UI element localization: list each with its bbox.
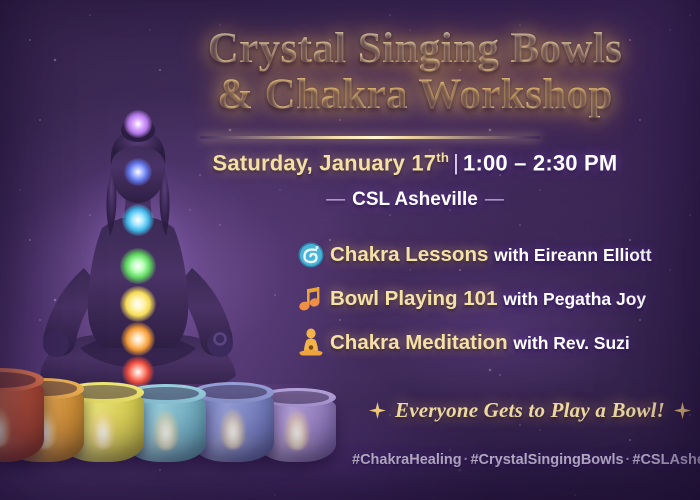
session-title: Chakra Lessons: [330, 243, 488, 266]
title-line-one: Crystal Singing Bowls: [150, 26, 680, 72]
event-date: Saturday, January 17: [213, 150, 437, 175]
singing-bowls-row: [0, 357, 380, 462]
session-text: Chakra Lessons with Eireann Elliott: [330, 243, 652, 267]
session-presenter: with Pegatha Joy: [503, 289, 646, 309]
hashtag-line: #ChakraHealing·#CrystalSingingBowls·#CSL…: [352, 452, 700, 468]
date-time-separator: |: [449, 150, 463, 175]
title-line-two: & Chakra Workshop: [150, 72, 680, 118]
venue-name: CSL Asheville: [352, 189, 478, 210]
root-chakra-bowl: [0, 368, 44, 462]
event-time: 1:00 – 2:30 PM: [463, 150, 617, 175]
tagline: Everyone Gets to Play a Bowl!: [360, 398, 700, 423]
session-item-chakra-lessons: Chakra Lessons with Eireann Elliott: [292, 233, 692, 277]
workshop-poster: Crystal Singing Bowls & Chakra Workshop …: [0, 0, 700, 500]
session-text: Bowl Playing 101 with Pegatha Joy: [330, 287, 646, 311]
session-text: Chakra Meditation with Rev. Suzi: [330, 331, 630, 355]
session-title: Bowl Playing 101: [330, 287, 497, 310]
meditation-person-icon: [292, 327, 330, 359]
gold-divider: [200, 136, 540, 139]
session-presenter: with Eireann Elliott: [494, 245, 652, 265]
venue-dash-left: —: [319, 189, 352, 210]
venue-dash-right: —: [478, 189, 511, 210]
music-note-icon: [292, 283, 330, 315]
venue-line: —CSL Asheville—: [150, 189, 680, 211]
session-list: Chakra Lessons with Eireann Elliott Bowl…: [292, 233, 692, 365]
hashtag-item: #ChakraHealing: [352, 452, 462, 468]
session-item-bowl-playing: Bowl Playing 101 with Pegatha Joy: [292, 277, 692, 321]
date-ordinal: th: [436, 150, 449, 165]
hashtag-item: #CrystalSingingBowls: [470, 452, 623, 468]
page-title: Crystal Singing Bowls & Chakra Workshop: [150, 26, 680, 119]
session-presenter: with Rev. Suzi: [513, 333, 629, 353]
sparkle-icon: [674, 402, 691, 419]
date-time-line: Saturday, January 17th|1:00 – 2:30 PM: [150, 150, 680, 176]
hashtag-item: #CSLAsheville: [632, 452, 700, 468]
session-title: Chakra Meditation: [330, 331, 508, 354]
tagline-text: Everyone Gets to Play a Bowl!: [395, 398, 665, 423]
spiral-icon: [292, 239, 330, 271]
